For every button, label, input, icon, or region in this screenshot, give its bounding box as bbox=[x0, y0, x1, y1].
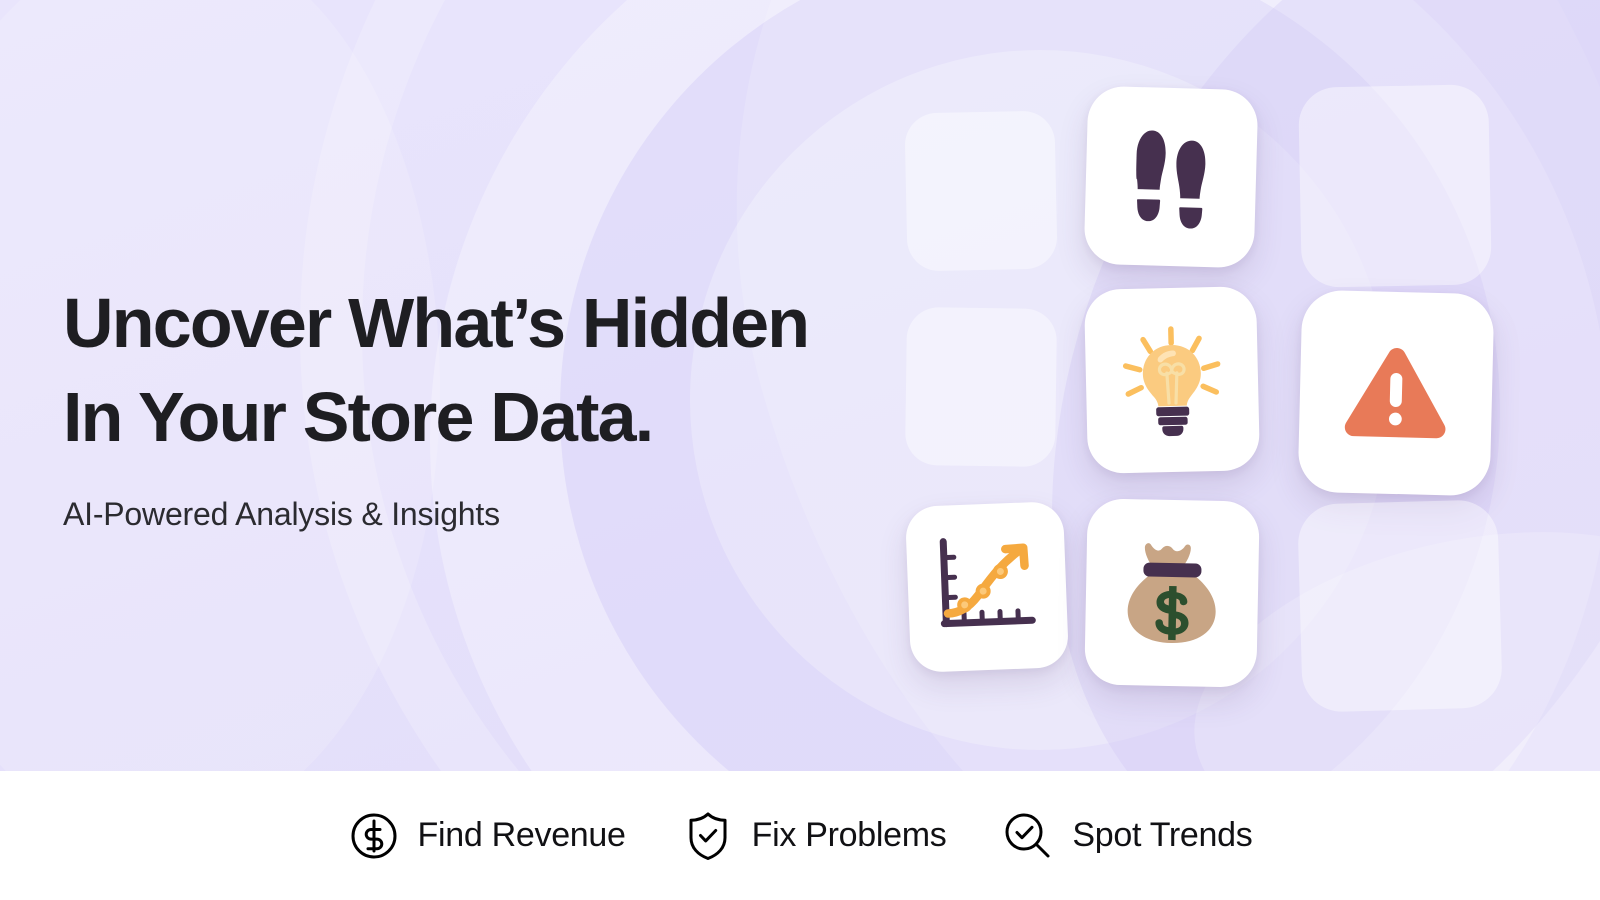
icon-card-lightbulb[interactable] bbox=[1084, 286, 1260, 474]
money-bag-icon bbox=[1119, 536, 1225, 650]
search-check-icon bbox=[1002, 810, 1054, 862]
hero-section: Uncover What’s Hidden In Your Store Data… bbox=[0, 0, 1600, 771]
feature-label-fix-problems: Fix Problems bbox=[752, 816, 947, 855]
icon-card-grid bbox=[900, 60, 1520, 720]
feature-bar: Find Revenue Fix Problems Spot Trends bbox=[0, 771, 1600, 900]
placeholder-card-r3c3 bbox=[1297, 499, 1503, 713]
headline-line-2: In Your Store Data. bbox=[63, 370, 808, 464]
placeholder-card-r2c1 bbox=[905, 307, 1057, 467]
feature-label-spot-trends: Spot Trends bbox=[1072, 816, 1252, 855]
dollar-circle-icon bbox=[348, 810, 400, 862]
icon-card-growth-chart[interactable] bbox=[905, 501, 1069, 673]
growth-chart-icon bbox=[931, 532, 1043, 642]
hero-subheadline: AI-Powered Analysis & Insights bbox=[63, 494, 808, 534]
icon-card-money-bag[interactable] bbox=[1084, 498, 1260, 687]
footprints-icon bbox=[1122, 124, 1221, 231]
feature-item-spot-trends[interactable]: Spot Trends bbox=[1002, 810, 1252, 862]
lightbulb-icon bbox=[1113, 320, 1232, 441]
warning-triangle-icon bbox=[1339, 342, 1453, 445]
feature-label-find-revenue: Find Revenue bbox=[418, 816, 626, 855]
hero-banner: Uncover What’s Hidden In Your Store Data… bbox=[0, 0, 1600, 900]
headline-line-1: Uncover What’s Hidden bbox=[63, 276, 808, 370]
feature-item-find-revenue[interactable]: Find Revenue bbox=[348, 810, 626, 862]
icon-card-footprints[interactable] bbox=[1084, 86, 1259, 269]
shield-check-icon bbox=[682, 810, 734, 862]
placeholder-card-r1c3 bbox=[1298, 84, 1492, 288]
placeholder-card-r1c1 bbox=[904, 110, 1057, 271]
feature-item-fix-problems[interactable]: Fix Problems bbox=[682, 810, 947, 862]
hero-text-block: Uncover What’s Hidden In Your Store Data… bbox=[63, 276, 808, 534]
icon-card-warning[interactable] bbox=[1298, 290, 1495, 497]
